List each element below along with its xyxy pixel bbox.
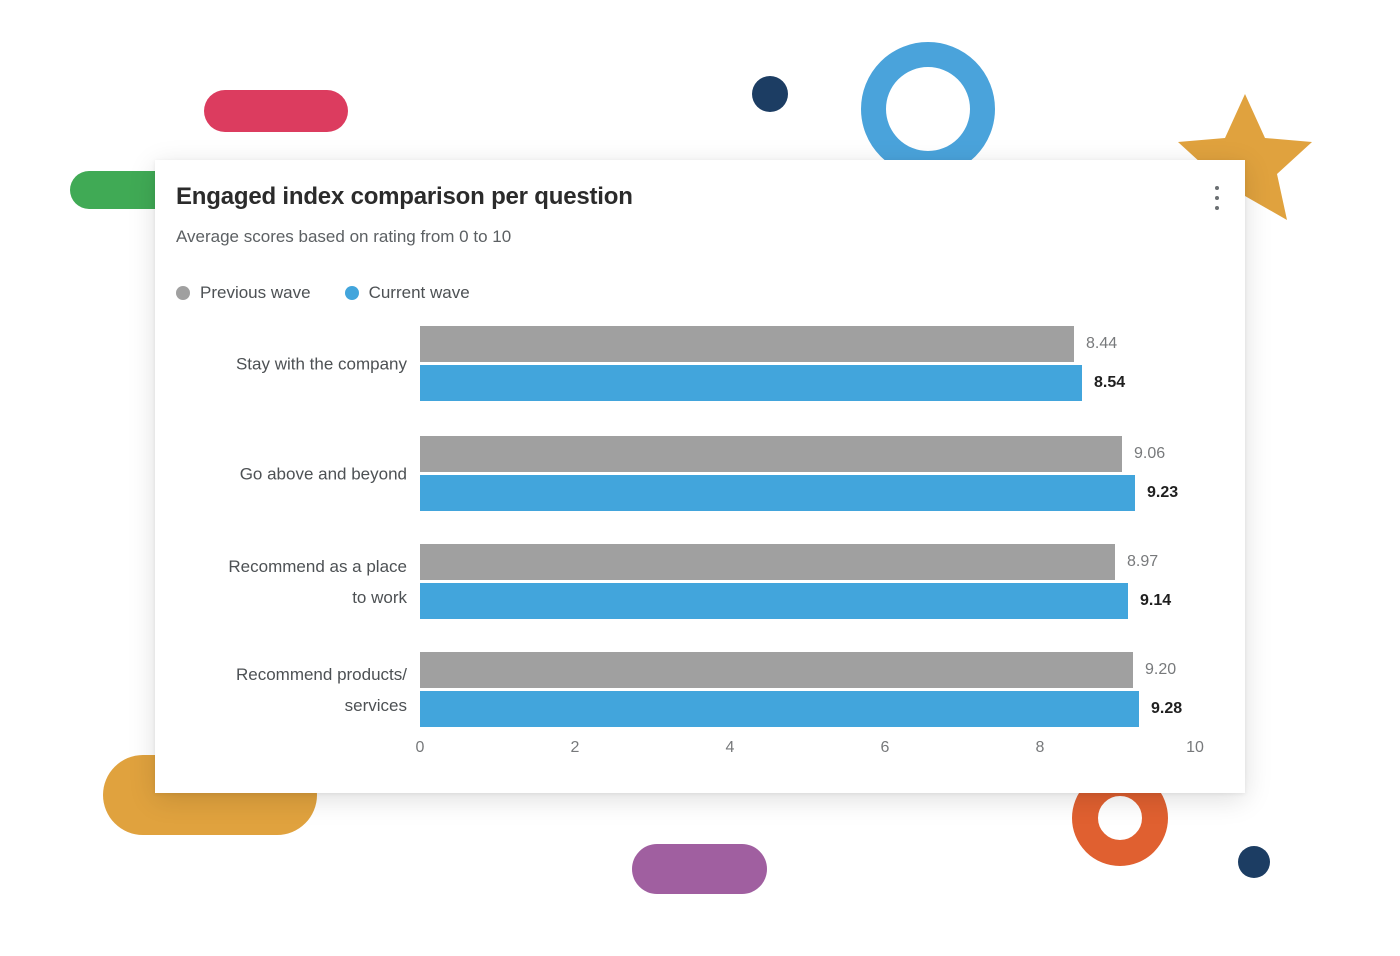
chart-row: Go above and beyond 9.06 9.23 <box>420 436 1245 512</box>
legend-dot-icon <box>345 286 359 300</box>
category-label-line: to work <box>352 588 407 607</box>
card-subtitle: Average scores based on rating from 0 to… <box>176 227 511 247</box>
legend-item-previous-wave[interactable]: Previous wave <box>176 283 311 303</box>
bar-value-previous: 8.44 <box>1086 326 1117 362</box>
kebab-dot <box>1215 206 1219 210</box>
x-axis: 0 2 4 6 8 10 <box>420 739 1245 769</box>
bar-value-previous: 9.20 <box>1145 652 1176 688</box>
category-label-line: Recommend as a place <box>228 557 407 576</box>
chart-legend: Previous wave Current wave <box>176 283 470 303</box>
kebab-dot <box>1215 196 1219 200</box>
category-label: Recommend products/ services <box>177 659 407 721</box>
chart-card: Engaged index comparison per question Av… <box>155 160 1245 793</box>
legend-label: Current wave <box>369 283 470 303</box>
bar-current-wave[interactable] <box>420 583 1128 619</box>
page-title: Engaged index comparison per question <box>176 183 633 211</box>
category-label: Stay with the company <box>177 349 407 380</box>
x-axis-tick: 2 <box>571 739 580 757</box>
kebab-dot <box>1215 186 1219 190</box>
decor-pink-pill <box>204 90 348 132</box>
bar-previous-wave[interactable] <box>420 652 1133 688</box>
bar-value-previous: 9.06 <box>1134 436 1165 472</box>
kebab-menu-icon[interactable] <box>1203 178 1231 218</box>
category-label-line: Stay with the company <box>236 355 407 374</box>
bar-chart: Stay with the company 8.44 8.54 Go above… <box>155 315 1245 785</box>
x-axis-tick: 4 <box>726 739 735 757</box>
decor-blue-donut <box>861 42 995 176</box>
chart-row: Recommend products/ services 9.20 9.28 <box>420 652 1245 728</box>
bar-current-wave[interactable] <box>420 365 1082 401</box>
bar-current-wave[interactable] <box>420 475 1135 511</box>
bar-previous-wave[interactable] <box>420 436 1122 472</box>
category-label-line: Recommend products/ <box>236 665 407 684</box>
decor-purple-pill <box>632 844 767 894</box>
category-label-line: services <box>345 696 407 715</box>
plot-area: Stay with the company 8.44 8.54 Go above… <box>420 315 1245 785</box>
bar-current-wave[interactable] <box>420 691 1139 727</box>
category-label-line: Go above and beyond <box>240 465 407 484</box>
decor-navy-dot-top <box>752 76 788 112</box>
legend-item-current-wave[interactable]: Current wave <box>345 283 470 303</box>
bar-previous-wave[interactable] <box>420 326 1074 362</box>
bar-value-current: 9.23 <box>1147 475 1178 511</box>
bar-value-current: 9.14 <box>1140 583 1171 619</box>
x-axis-tick: 8 <box>1036 739 1045 757</box>
bar-value-current: 9.28 <box>1151 691 1182 727</box>
x-axis-tick: 10 <box>1186 739 1204 757</box>
x-axis-tick: 0 <box>416 739 425 757</box>
legend-label: Previous wave <box>200 283 311 303</box>
bar-value-current: 8.54 <box>1094 365 1125 401</box>
category-label: Go above and beyond <box>177 459 407 490</box>
chart-row: Stay with the company 8.44 8.54 <box>420 326 1245 402</box>
bar-previous-wave[interactable] <box>420 544 1115 580</box>
x-axis-tick: 6 <box>881 739 890 757</box>
chart-row: Recommend as a place to work 8.97 9.14 <box>420 544 1245 620</box>
category-label: Recommend as a place to work <box>177 551 407 613</box>
bar-value-previous: 8.97 <box>1127 544 1158 580</box>
legend-dot-icon <box>176 286 190 300</box>
decor-navy-dot-bottom <box>1238 846 1270 878</box>
